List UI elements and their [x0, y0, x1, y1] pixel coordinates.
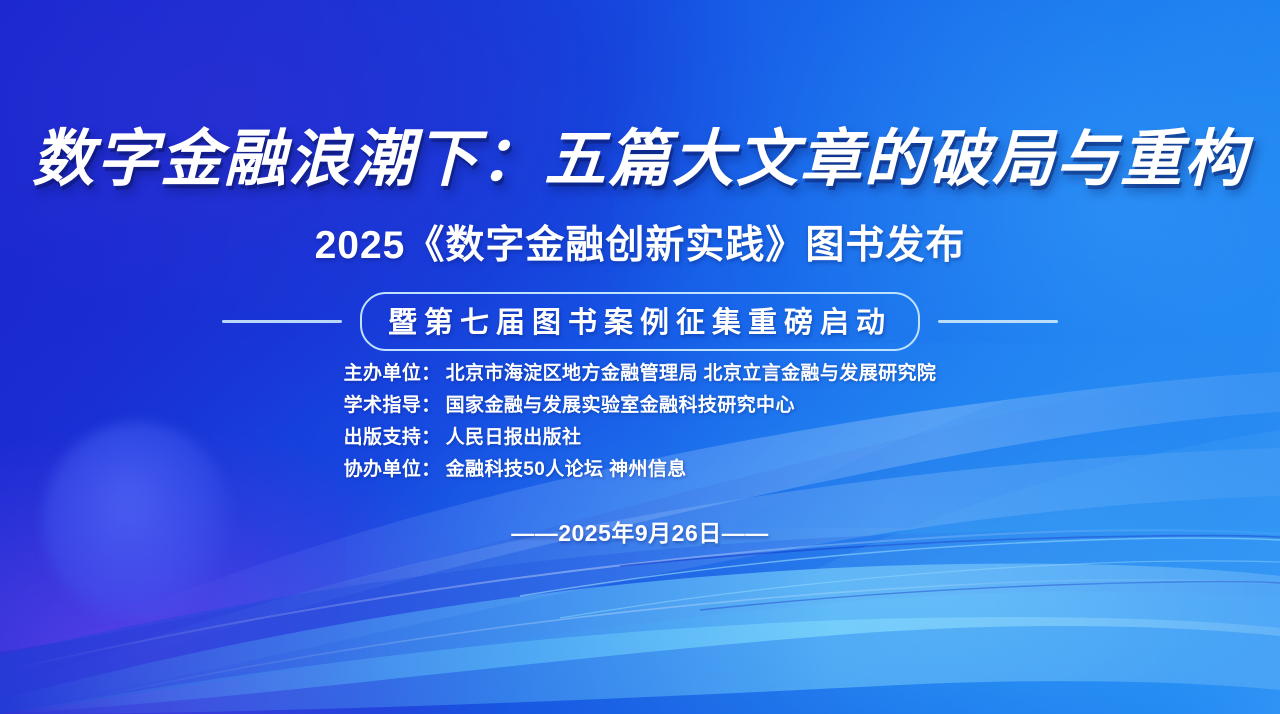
credit-value: 金融科技50人论坛 神州信息 — [446, 459, 687, 480]
credits-block: 主办单位：北京市海淀区地方金融管理局 北京立言金融与发展研究院 学术指导：国家金… — [0, 358, 1280, 481]
page-title: 数字金融浪潮下：五篇大文章的破局与重构 — [0, 108, 1280, 198]
credit-value: 国家金融与发展实验室金融科技研究中心 — [446, 395, 795, 416]
credit-line-publishing-support: 出版支持：人民日报出版社 — [344, 422, 937, 449]
credit-label: 协办单位： — [344, 459, 441, 480]
pill-headline-row: 暨第七届图书案例征集重磅启动 — [0, 292, 1280, 351]
rule-left — [222, 320, 342, 323]
rule-right — [938, 320, 1058, 323]
credit-label: 出版支持： — [344, 427, 441, 448]
banner-content: 数字金融浪潮下：五篇大文章的破局与重构 2025《数字金融创新实践》图书发布 暨… — [0, 0, 1280, 714]
credit-line-academic-guidance: 学术指导：国家金融与发展实验室金融科技研究中心 — [344, 390, 937, 417]
event-date: ——2025年9月26日—— — [511, 514, 769, 548]
credit-value: 北京市海淀区地方金融管理局 北京立言金融与发展研究院 — [446, 363, 937, 384]
credit-label: 主办单位： — [344, 363, 441, 384]
credit-value: 人民日报出版社 — [446, 427, 582, 448]
launch-pill-badge: 暨第七届图书案例征集重磅启动 — [360, 292, 920, 351]
credit-label: 学术指导： — [344, 395, 441, 416]
page-subtitle: 2025《数字金融创新实践》图书发布 — [0, 214, 1280, 270]
event-date-row: ——2025年9月26日—— — [0, 514, 1280, 548]
credit-line-organizer: 主办单位：北京市海淀区地方金融管理局 北京立言金融与发展研究院 — [344, 358, 937, 385]
credit-line-co-organizer: 协办单位：金融科技50人论坛 神州信息 — [344, 454, 937, 481]
event-banner: 数字金融浪潮下：五篇大文章的破局与重构 2025《数字金融创新实践》图书发布 暨… — [0, 0, 1280, 714]
